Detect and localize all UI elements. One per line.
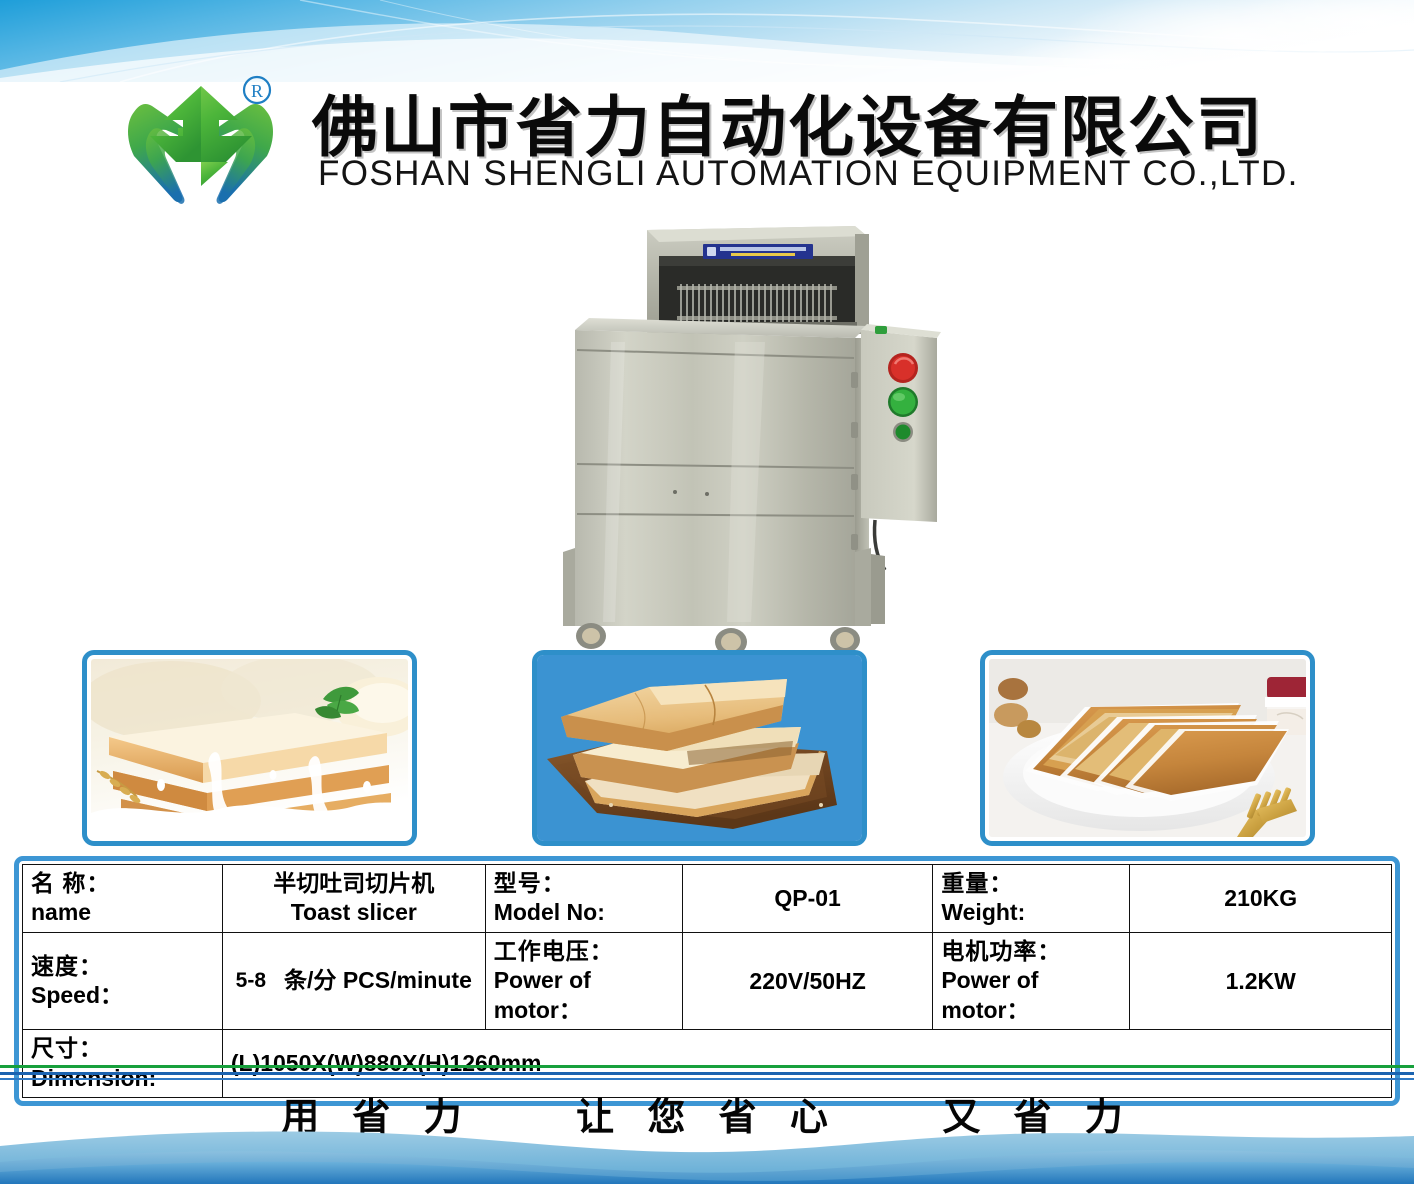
speed-label-en: Speed：: [31, 981, 214, 1010]
name-label-cn: 名 称：: [31, 869, 214, 898]
voltage-label-en: Power of motor：: [494, 966, 674, 1025]
company-name-english: FOSHAN SHENGLI AUTOMATION EQUIPMENT CO.,…: [318, 154, 1299, 194]
name-label-en: name: [31, 898, 214, 927]
green-indicator-lamp: [875, 326, 887, 334]
table-row: 名 称： name 半切吐司切片机 Toast slicer 型号： Model…: [23, 865, 1392, 933]
cell-name-value: 半切吐司切片机 Toast slicer: [222, 865, 485, 933]
red-emergency-stop-button: [888, 353, 918, 383]
divider-blue-lower: [0, 1078, 1414, 1080]
page-header: R 佛山市省力自动化设备有限公司 FOSHAN SHENGLI AUTOMATI…: [0, 60, 1414, 220]
toast-stack-with-milk-splash-image: [91, 659, 408, 837]
cell-speed-value: 5-8 条/分 PCS/minute: [222, 932, 485, 1029]
motorpower-label-en: Power of motor：: [941, 966, 1121, 1025]
name-value-en: Toast slicer: [231, 898, 477, 927]
green-start-button: [888, 387, 918, 417]
divider-blue-upper: [0, 1072, 1414, 1075]
footer-wave-graphic: [0, 1128, 1414, 1184]
registered-trademark-icon: R: [244, 77, 270, 103]
product-photo-row: [0, 650, 1414, 850]
cell-motorpower-value: 1.2KW: [1130, 932, 1392, 1029]
sliced-bread-on-white-plate-image: [989, 659, 1306, 837]
table-row: 速度： Speed： 5-8 条/分 PCS/minute 工作电压： Powe…: [23, 932, 1392, 1029]
specification-table: 名 称： name 半切吐司切片机 Toast slicer 型号： Model…: [22, 864, 1392, 1098]
cell-weight-label: 重量： Weight:: [933, 865, 1130, 933]
product-photo-3: [980, 650, 1315, 846]
weight-label-cn: 重量：: [941, 869, 1121, 898]
machine-product-photo: [555, 222, 955, 652]
speed-number: 5-8: [236, 969, 266, 993]
weight-label-en: Weight:: [941, 898, 1121, 927]
dimension-label-cn: 尺寸：: [31, 1034, 214, 1063]
cell-name-label: 名 称： name: [23, 865, 223, 933]
control-panel-box: [861, 324, 941, 570]
company-logo: R: [118, 70, 283, 215]
model-label-en: Model No:: [494, 898, 674, 927]
cell-model-label: 型号： Model No:: [485, 865, 682, 933]
toast-slices-on-wooden-board-image: [537, 655, 862, 841]
cell-voltage-label: 工作电压： Power of motor：: [485, 932, 682, 1029]
cell-voltage-value: 220V/50HZ: [682, 932, 933, 1029]
cell-model-value: QP-01: [682, 865, 933, 933]
product-photo-2: [532, 650, 867, 846]
speed-unit-cn: 条/分: [284, 967, 336, 993]
cell-motorpower-label: 电机功率： Power of motor：: [933, 932, 1130, 1029]
machine-nameplate: [703, 244, 813, 259]
speed-unit-en: PCS/minute: [343, 967, 472, 993]
footer-waves: [0, 1128, 1414, 1184]
toast-slicer-machine-illustration: [555, 222, 955, 652]
divider-green: [0, 1065, 1414, 1068]
cell-weight-value: 210KG: [1130, 865, 1392, 933]
speed-label-cn: 速度：: [31, 952, 214, 981]
product-photo-1: [82, 650, 417, 846]
cell-speed-label: 速度： Speed：: [23, 932, 223, 1029]
hands-cradling-s-logo-icon: R: [118, 70, 283, 215]
model-label-cn: 型号：: [494, 869, 674, 898]
svg-text:R: R: [251, 81, 263, 101]
motorpower-label-cn: 电机功率：: [941, 937, 1121, 966]
caster-wheels: [576, 623, 860, 652]
name-value-cn: 半切吐司切片机: [231, 869, 477, 898]
small-green-lamp: [893, 422, 913, 442]
voltage-label-cn: 工作电压：: [494, 937, 674, 966]
specification-table-frame: 名 称： name 半切吐司切片机 Toast slicer 型号： Model…: [14, 856, 1400, 1106]
